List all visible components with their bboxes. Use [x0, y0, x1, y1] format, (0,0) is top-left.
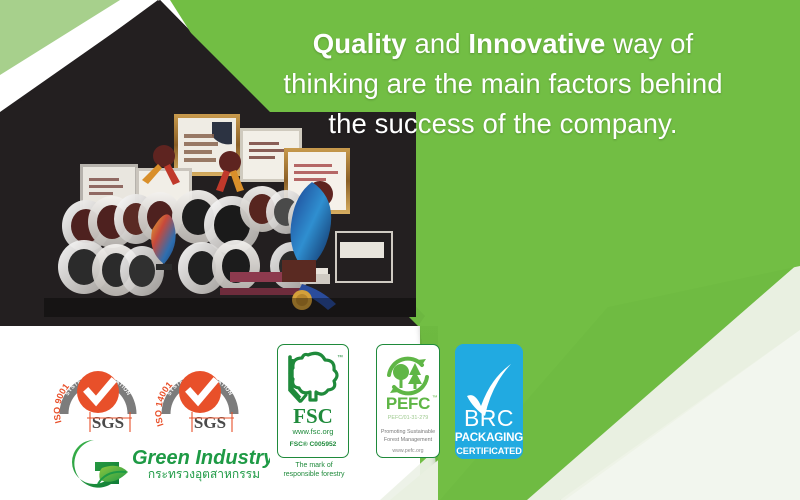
green-industry-brand: Green Industry — [132, 447, 270, 469]
cert-brand-sgs-9001: SGS — [50, 434, 51, 435]
pefc-brand: PEFC — [386, 394, 430, 413]
pefc-tagline-line-1: Promoting Sustainable — [381, 429, 435, 435]
cert-name-pefc: PEFC — [377, 457, 378, 458]
banner-root: Collection of award trophies and plaques… — [0, 0, 800, 500]
brc-brand: BRC — [464, 405, 514, 431]
headline-and: and — [407, 28, 469, 59]
sgs-iso-14001-logo: SYSTEM CERTIFICATION ISO 14001 SGS — [152, 350, 252, 434]
fsc-trademark-icon: ™ — [337, 354, 343, 361]
fsc-logo: ™ FSC www.fsc.org FSC® C005952 — [278, 345, 348, 457]
headline-bold-quality: Quality — [313, 28, 407, 59]
fsc-brand: FSC — [293, 404, 333, 428]
cert-name-sgs-9001: SGS ISO 9001 — [50, 434, 51, 435]
pefc-trademark-icon: ™ — [432, 395, 438, 401]
pefc-website: www.pefc.org — [392, 448, 423, 454]
cert-arc-sgs-9001: SYSTEM CERTIFICATION — [50, 434, 51, 435]
leaf-icon — [99, 466, 128, 482]
sgs-brand-label: SGS — [194, 413, 226, 432]
cert-name-fsc: FSC — [278, 457, 279, 458]
cert-logo-sgs-iso-9001[interactable]: SYSTEM CERTIFICATION ISO 9001 SGS SGS IS… — [50, 350, 150, 434]
green-industry-ministry: กระทรวงอุตสาหกรรม — [148, 467, 260, 482]
brc-logo: BRC PACKAGING CERTIFICATED — [455, 344, 523, 459]
cert-name-brc: BRC Packaging Certificated — [455, 459, 456, 460]
pefc-tagline-line-2: Forest Management — [384, 437, 433, 443]
green-industry-logo: Green Industry กระทรวงอุตสาหกรรม — [60, 434, 270, 488]
fsc-code: FSC® C005952 — [290, 440, 337, 448]
brc-status: CERTIFICATED — [456, 446, 522, 456]
cert-logo-brc[interactable]: BRC PACKAGING CERTIFICATED BRC Packaging… — [455, 344, 523, 459]
fsc-tagline: The mark of responsible forestry — [274, 461, 354, 479]
pefc-logo: PEFC ™ PEFC/01-31-279 Promoting Sustaina… — [377, 345, 439, 457]
cert-name-green-industry: Green Industry — [60, 488, 61, 489]
headline-bold-innovative: Innovative — [468, 28, 605, 59]
fsc-tagline-line-1: The mark of — [274, 461, 354, 470]
headline: Quality and Innovative way of thinking a… — [268, 24, 738, 144]
certification-strip: SYSTEM CERTIFICATION ISO 9001 SGS SGS IS… — [0, 326, 560, 500]
sgs-brand-label: SGS — [92, 413, 124, 432]
cert-logo-sgs-iso-14001[interactable]: SYSTEM CERTIFICATION ISO 14001 SGS SGS I… — [152, 350, 252, 434]
fsc-website: www.fsc.org — [292, 427, 334, 436]
fsc-tagline-line-2: responsible forestry — [274, 470, 354, 479]
cert-logo-pefc[interactable]: PEFC ™ PEFC/01-31-279 Promoting Sustaina… — [376, 344, 440, 458]
sgs-iso-9001-logo: SYSTEM CERTIFICATION ISO 9001 SGS — [50, 350, 150, 434]
brc-scheme: PACKAGING — [455, 431, 523, 444]
cert-logo-fsc[interactable]: ™ FSC www.fsc.org FSC® C005952 The mark … — [277, 344, 349, 458]
cert-standard-sgs-9001: ISO 9001 — [50, 434, 51, 435]
pefc-code: PEFC/01-31-279 — [388, 415, 428, 421]
cert-logo-green-industry[interactable]: Green Industry กระทรวงอุตสาหกรรม Green I… — [60, 434, 270, 488]
